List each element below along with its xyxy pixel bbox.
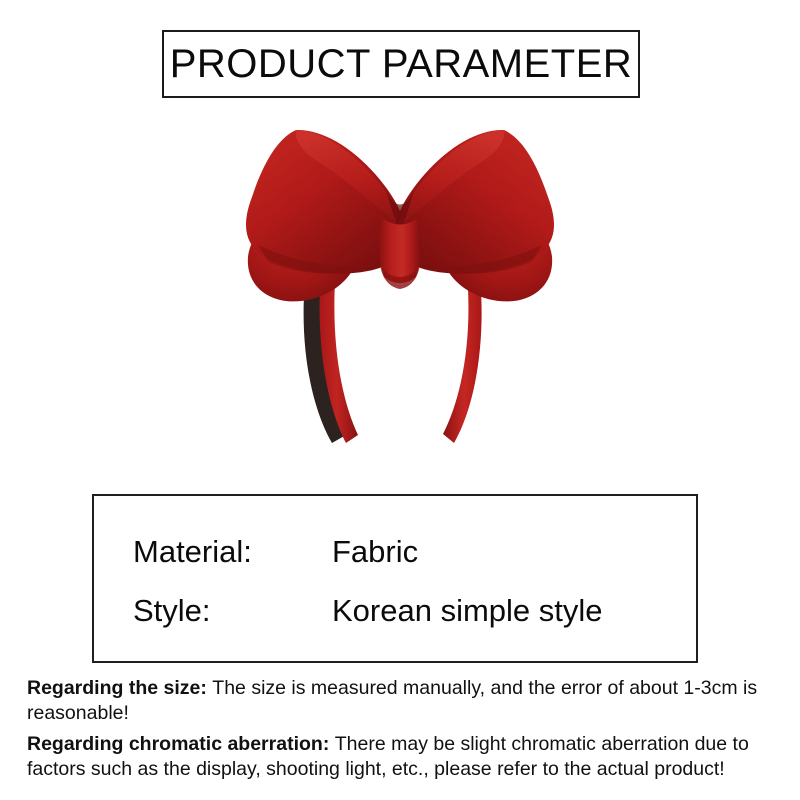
note-chromatic-aberration: Regarding chromatic aberration: There ma… bbox=[27, 732, 779, 782]
spec-value-material: Fabric bbox=[332, 536, 418, 567]
spec-label-style: Style: bbox=[133, 595, 211, 626]
note-size-label: Regarding the size bbox=[27, 677, 200, 699]
spec-row-material: Material: Fabric bbox=[94, 525, 696, 577]
note-chromatic-label: Regarding chromatic aberration bbox=[27, 733, 323, 755]
spec-label-material: Material: bbox=[133, 536, 252, 567]
page-title: PRODUCT PARAMETER bbox=[170, 44, 633, 84]
note-size: Regarding the size: The size is measured… bbox=[27, 676, 779, 726]
spec-value-style: Korean simple style bbox=[332, 595, 603, 626]
page-title-box: PRODUCT PARAMETER bbox=[162, 30, 640, 98]
spec-row-style: Style: Korean simple style bbox=[94, 584, 696, 636]
note-chromatic-separator: : bbox=[323, 733, 335, 755]
product-spec-table: Material: Fabric Style: Korean simple st… bbox=[92, 494, 698, 663]
bow-shape bbox=[246, 130, 554, 301]
note-size-separator: : bbox=[200, 677, 212, 699]
product-image-bow-headband bbox=[200, 105, 600, 460]
footer-notes: Regarding the size: The size is measured… bbox=[27, 676, 779, 788]
